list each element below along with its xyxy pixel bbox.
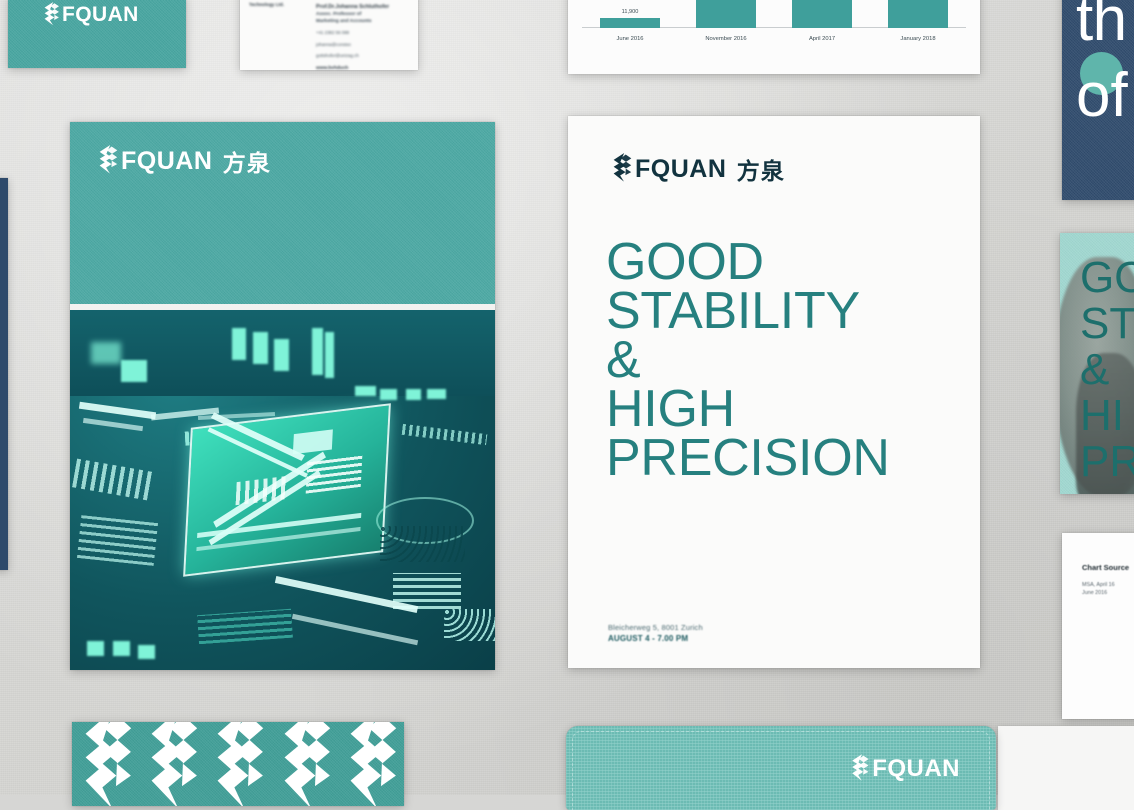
logo-lockup: FQUAN xyxy=(847,754,960,784)
teal-poster-headline-line: PR xyxy=(1080,439,1134,485)
navy-card-line-1: th xyxy=(1076,0,1126,48)
brand-wordmark: FQUAN xyxy=(872,755,960,783)
chart-value-label: 11,900 xyxy=(600,9,660,15)
business-card-contact-3: gottshofer@unizag.ch xyxy=(316,53,389,60)
brand-wordmark: FQUAN xyxy=(121,147,212,176)
fquan-zigzag-logo-icon xyxy=(608,153,635,185)
teal-poster-headline-line: ST xyxy=(1080,301,1134,347)
teal-poster-right: GO ST & HI PR xyxy=(1060,233,1134,494)
chart-source-subtext: MSA, April 16 June 2016 xyxy=(1082,581,1115,597)
chart-report-sheet: 11,900June 201634,000November 2016April … xyxy=(568,0,980,74)
white-sheet-corner xyxy=(998,726,1134,810)
business-card-role-2: Marketing and Accounts xyxy=(316,18,389,25)
chart-source-line-2: June 2016 xyxy=(1082,589,1115,597)
poster-headline-line: HIGH xyxy=(606,385,960,434)
fquan-zigzag-logo-icon xyxy=(203,722,273,806)
chart-bar xyxy=(696,0,756,28)
brand-wordmark: FQUAN xyxy=(62,3,139,27)
logo-lockup: FQUAN xyxy=(40,2,139,28)
fquan-zigzag-logo-icon xyxy=(40,2,62,28)
poster-footer: Bleicherweg 5, 8001 Zurich AUGUST 4 - 7.… xyxy=(608,622,703,644)
chart-source-line-1: MSA, April 16 xyxy=(1082,581,1115,589)
navy-card-line-2: of xyxy=(1076,68,1128,124)
chart-category-label: November 2016 xyxy=(679,36,773,42)
business-card-details: Prof.Dr.Johanna Schluthofer Assoc. Profe… xyxy=(316,3,389,72)
business-card-company: Technology Ltd. xyxy=(249,2,284,7)
fabric-folder: FQUAN xyxy=(566,726,996,810)
poster-address: Bleicherweg 5, 8001 Zurich xyxy=(608,622,703,633)
business-card-contact-2: johanna@constec xyxy=(316,42,389,49)
chart-bar xyxy=(888,0,948,28)
chart-bar xyxy=(600,18,660,28)
poster-headline-line: & xyxy=(606,336,960,385)
business-card-role-1: Assoc. Professor of xyxy=(316,11,389,18)
navy-poster-card: th of xyxy=(1062,0,1134,200)
poster-headline-line: STABILITY xyxy=(606,287,960,336)
poster-headline-line: GOOD xyxy=(606,238,960,287)
business-card-website: www.bvhduch xyxy=(316,65,389,72)
fquan-zigzag-logo-icon xyxy=(336,722,404,806)
logo-lockup: FQUAN 方泉 xyxy=(94,144,271,178)
fquan-zigzag-logo-icon xyxy=(94,145,121,177)
business-card-name: Prof.Dr.Johanna Schluthofer xyxy=(316,3,389,11)
microchip-glow xyxy=(185,406,388,575)
fquan-zigzag-logo-icon xyxy=(137,722,207,806)
navy-card-left-edge xyxy=(0,178,8,570)
fquan-zigzag-logo-icon xyxy=(403,722,404,806)
teal-poster-headline-line: GO xyxy=(1080,255,1134,301)
business-card-contact-1: +41 2382 56 088 xyxy=(316,30,389,37)
logo-pattern xyxy=(72,722,404,806)
poster-headline-line: PRECISION xyxy=(606,434,960,483)
logo-lockup: FQUAN 方泉 xyxy=(608,152,785,186)
fquan-zigzag-logo-icon xyxy=(847,754,872,784)
brand-wordmark: FQUAN xyxy=(635,155,726,184)
fquan-zigzag-logo-icon xyxy=(270,722,340,806)
chart-source-sheet: Chart Source MSA, April 16 June 2016 xyxy=(1062,533,1134,719)
brand-wordmark-cn: 方泉 xyxy=(223,144,271,178)
event-poster: FQUAN 方泉 GOOD STABILITY & HIGH PRECISION… xyxy=(568,116,980,668)
bar-chart: 11,900June 201634,000November 2016April … xyxy=(582,10,966,50)
chart-category-label: January 2018 xyxy=(871,36,965,42)
brand-wordmark-cn: 方泉 xyxy=(737,152,785,186)
circuit-board-photo xyxy=(70,310,495,670)
teal-poster-headline-line: HI xyxy=(1080,393,1134,439)
poster-headline: GOOD STABILITY & HIGH PRECISION xyxy=(606,238,960,483)
teal-poster-headline: GO ST & HI PR xyxy=(1080,255,1134,485)
teal-poster-headline-line: & xyxy=(1080,347,1134,393)
pattern-card xyxy=(72,722,404,806)
chart-category-label: June 2016 xyxy=(583,36,677,42)
chart-source-title: Chart Source xyxy=(1082,563,1129,572)
teal-business-card: FQUAN xyxy=(8,0,186,68)
brochure-header-band: FQUAN 方泉 xyxy=(70,122,495,304)
poster-datetime: AUGUST 4 - 7.00 PM xyxy=(608,633,703,644)
brochure-cover: FQUAN 方泉 xyxy=(70,122,495,670)
fquan-zigzag-logo-icon xyxy=(72,722,140,806)
chart-bar xyxy=(792,0,852,28)
chart-category-label: April 2017 xyxy=(775,36,869,42)
contact-business-card: Technology Ltd. Prof.Dr.Johanna Schlutho… xyxy=(240,0,418,70)
